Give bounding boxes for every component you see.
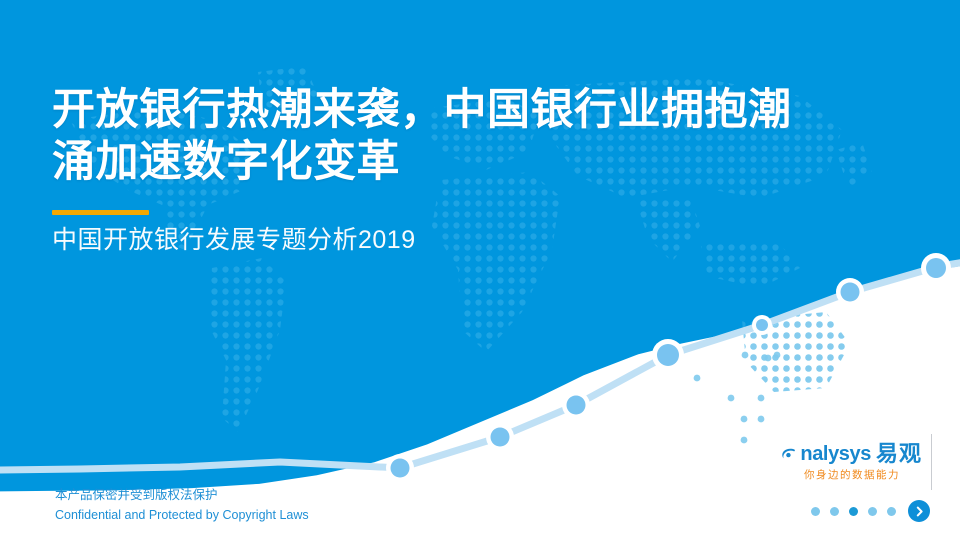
confidential-notice-en: Confidential and Protected by Copyright … [55, 505, 309, 525]
swoosh-icon [782, 445, 795, 463]
pagination-dot-4[interactable] [868, 507, 877, 516]
logo-tagline: 你身边的数据能力 [782, 470, 922, 481]
confidential-notice-cn: 本产品保密并受到版权法保护 [55, 485, 309, 505]
pagination-dot-5[interactable] [887, 507, 896, 516]
pagination-dot-3[interactable] [849, 507, 858, 516]
title-slide: 开放银行热潮来袭，中国银行业拥抱潮 涌加速数字化变革 中国开放银行发展专题分析2… [0, 0, 960, 540]
accent-bar [52, 210, 149, 215]
logo-divider [931, 434, 932, 490]
analysys-logo: nalysys 易观 你身边的数据能力 [782, 443, 922, 481]
pagination-dot-1[interactable] [811, 507, 820, 516]
logo-latin-text: nalysys [800, 444, 871, 464]
pagination-dot-2[interactable] [830, 507, 839, 516]
pagination[interactable] [811, 500, 930, 522]
page-subtitle: 中国开放银行发展专题分析2019 [52, 224, 912, 257]
chevron-right-icon [914, 506, 925, 517]
trend-line-path [0, 262, 960, 470]
logo-chinese-text: 易观 [876, 443, 922, 465]
confidential-notice: 本产品保密并受到版权法保护 Confidential and Protected… [55, 485, 309, 526]
logo-wordmark: nalysys 易观 [782, 443, 922, 465]
page-title: 开放银行热潮来袭，中国银行业拥抱潮 涌加速数字化变革 [52, 84, 912, 188]
next-slide-button[interactable] [908, 500, 930, 522]
headline-block: 开放银行热潮来袭，中国银行业拥抱潮 涌加速数字化变革 中国开放银行发展专题分析2… [52, 84, 912, 257]
